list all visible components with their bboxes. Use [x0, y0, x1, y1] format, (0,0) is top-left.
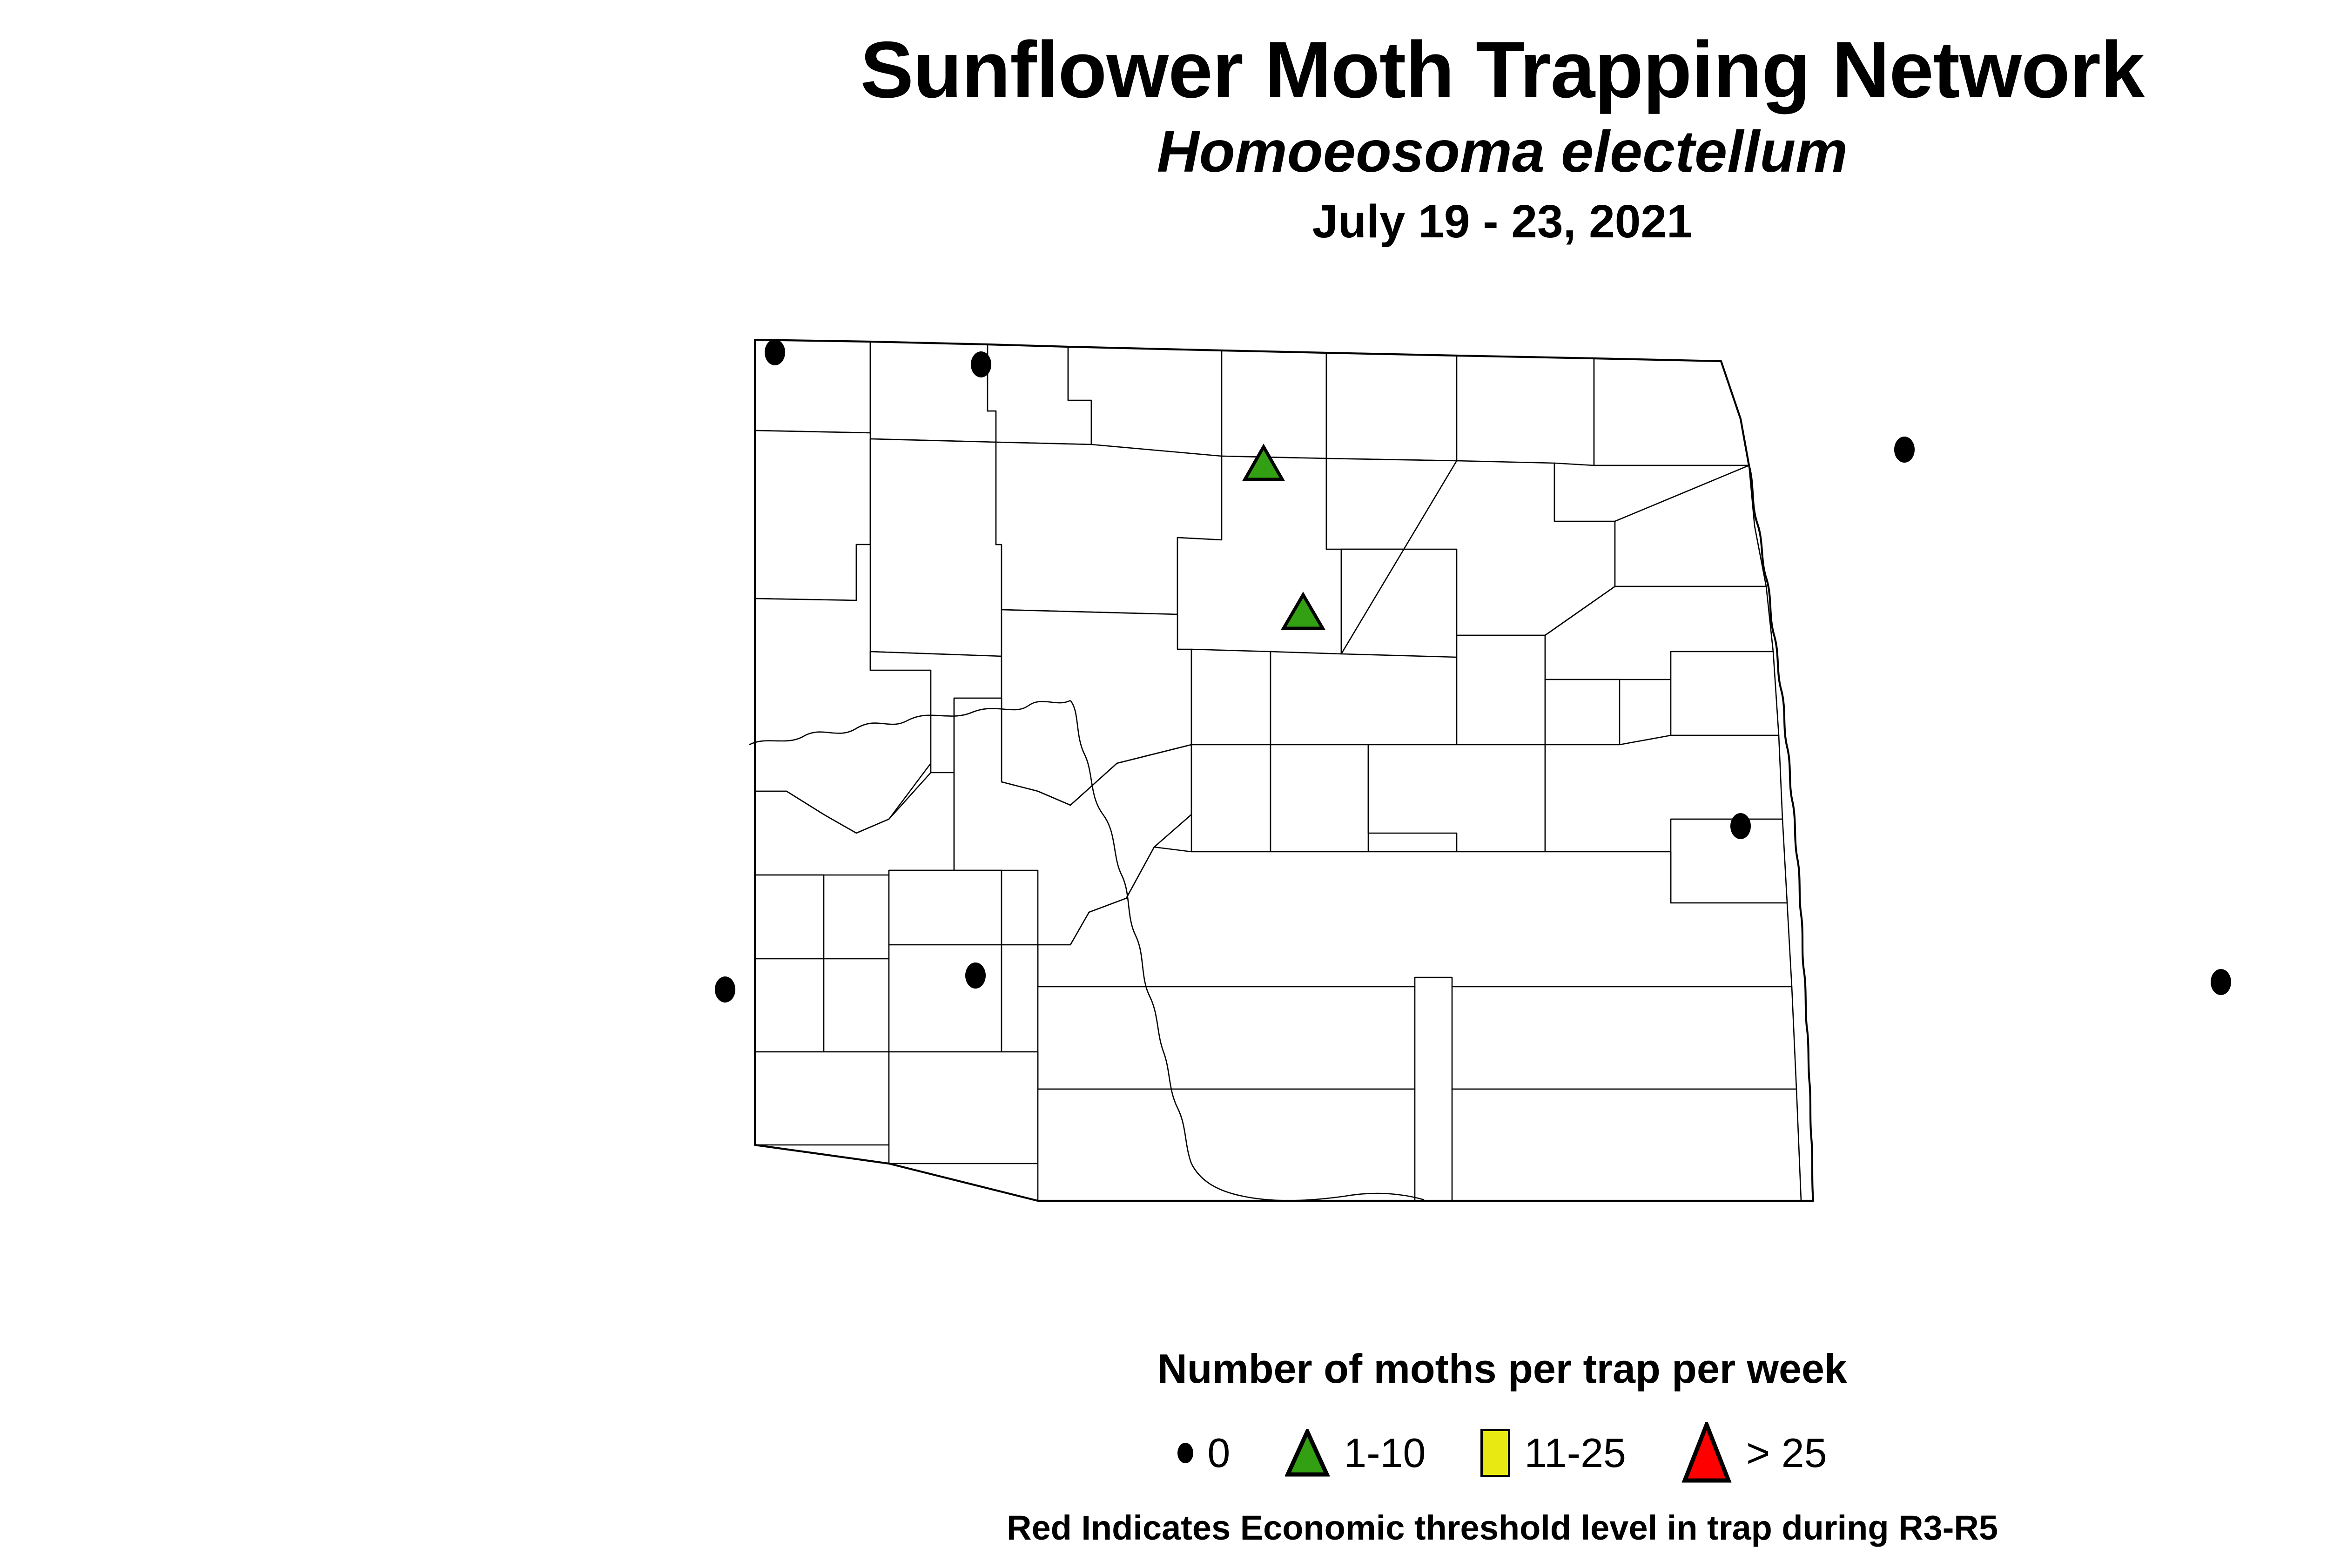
trap-site-marker-0[interactable]	[2211, 969, 2231, 995]
page-title: Sunflower Moth Trapping Network	[0, 28, 2327, 112]
legend-label-high: > 25	[1746, 1429, 1827, 1477]
north-dakota-map[interactable]	[670, 326, 2327, 1312]
trap-site-marker-0[interactable]	[971, 351, 991, 377]
trap-site-marker-0[interactable]	[1894, 437, 1915, 463]
map-svg	[670, 326, 2327, 1312]
legend-label-zero: 0	[1207, 1429, 1230, 1477]
red-triangle-marker-icon	[1681, 1422, 1732, 1484]
legend-label-medium: 11-25	[1524, 1429, 1626, 1477]
legend: 0 1-10 11-25 > 25	[0, 1422, 2327, 1484]
legend-item-medium[interactable]: 11-25	[1480, 1429, 1681, 1477]
legend-title: Number of moths per trap per week	[0, 1345, 2327, 1393]
yellow-square-marker-icon	[1480, 1429, 1510, 1477]
map-page: Sunflower Moth Trapping Network Homoeoso…	[0, 0, 2327, 1568]
trap-site-marker-0[interactable]	[965, 962, 986, 989]
green-triangle-marker-icon	[1285, 1429, 1330, 1477]
legend-item-high[interactable]: > 25	[1681, 1422, 1827, 1484]
date-range-label: July 19 - 23, 2021	[0, 196, 2327, 247]
threshold-note: Red Indicates Economic threshold level i…	[0, 1508, 2327, 1548]
title-block: Sunflower Moth Trapping Network Homoeoso…	[0, 28, 2327, 247]
legend-item-low[interactable]: 1-10	[1285, 1429, 1480, 1477]
species-subtitle: Homoeosoma electellum	[0, 120, 2327, 184]
trap-site-marker-0[interactable]	[715, 976, 735, 1003]
legend-item-zero[interactable]: 0	[1177, 1429, 1285, 1477]
trap-site-marker-0[interactable]	[765, 339, 785, 365]
circle-marker-icon	[1177, 1443, 1193, 1463]
trap-site-marker-0[interactable]	[1730, 813, 1751, 839]
legend-label-low: 1-10	[1344, 1429, 1426, 1477]
